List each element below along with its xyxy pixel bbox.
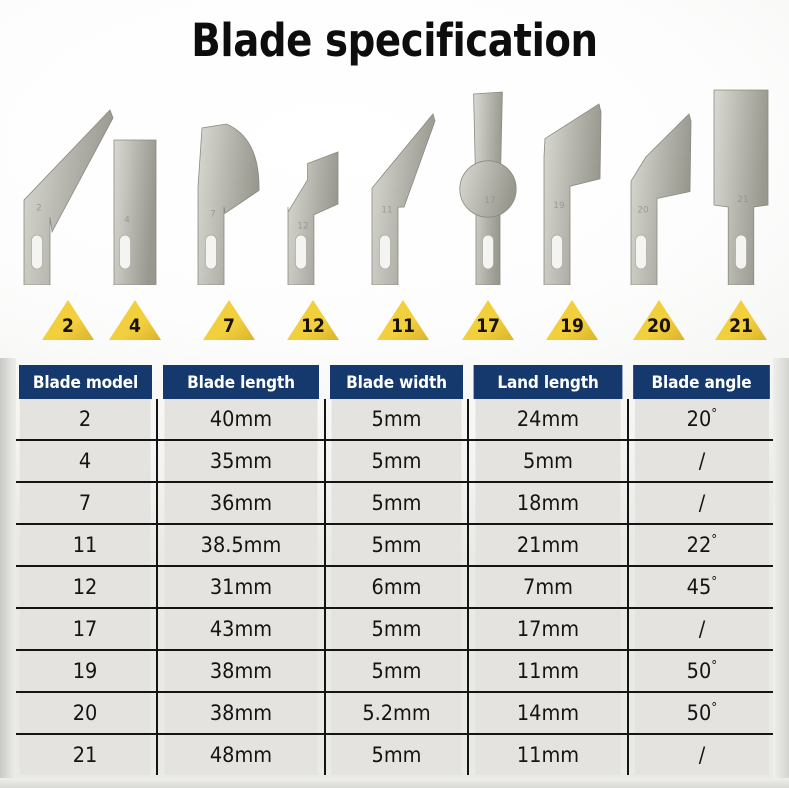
blade-length-cell: 40mm bbox=[164, 399, 319, 440]
blade-shape-12: 12 bbox=[286, 150, 340, 285]
table-row: 2148mm5mm11mm/ bbox=[14, 734, 775, 775]
blade-mounting-slot bbox=[206, 235, 217, 269]
blade-item: 1111 bbox=[370, 0, 436, 350]
blade-model-cell: 17 bbox=[20, 608, 152, 650]
blade-width-cell: 5.2mm bbox=[331, 692, 463, 734]
table-row: 1938mm5mm11mm50° bbox=[14, 650, 775, 692]
blade-width-cell: 5mm bbox=[331, 608, 463, 650]
blade-etched-number: 7 bbox=[210, 210, 216, 220]
blade-angle-cell: 22° bbox=[634, 524, 769, 566]
blade-length-cell: 35mm bbox=[164, 440, 319, 482]
land-length-cell: 24mm bbox=[474, 399, 621, 440]
blade-shape-2: 2 bbox=[22, 108, 114, 285]
blade-shape-7: 7 bbox=[196, 122, 262, 285]
land-length-cell: 14mm bbox=[474, 692, 621, 734]
blade-model-cell: 2 bbox=[20, 399, 152, 440]
blade-angle-cell: 50° bbox=[634, 650, 769, 692]
blade-model-cell: 12 bbox=[20, 566, 152, 608]
blade-item: 1717 bbox=[458, 0, 518, 350]
blade-width-cell: 5mm bbox=[331, 440, 463, 482]
land-length-cell: 11mm bbox=[474, 734, 621, 775]
blade-marker-2: 2 bbox=[40, 298, 96, 342]
blade-mounting-slot bbox=[552, 235, 563, 269]
blade-item: 1919 bbox=[542, 0, 602, 350]
blade-marker-12: 12 bbox=[285, 298, 341, 342]
blade-marker-label: 19 bbox=[547, 315, 597, 337]
blade-mounting-slot bbox=[32, 235, 43, 269]
bottom-edge-shading bbox=[0, 778, 789, 788]
blade-length-cell: 38mm bbox=[164, 650, 319, 692]
blade-width-cell: 5mm bbox=[331, 650, 463, 692]
blade-angle-cell: / bbox=[634, 440, 769, 482]
blade-model-cell: 20 bbox=[20, 692, 152, 734]
degree-symbol: ° bbox=[711, 701, 717, 716]
blade-mounting-slot bbox=[295, 235, 306, 269]
blade-item: 2121 bbox=[712, 0, 770, 350]
blade-item: 22 bbox=[22, 0, 114, 350]
blade-marker-label: 21 bbox=[716, 315, 766, 337]
blade-width-cell: 6mm bbox=[331, 566, 463, 608]
table-row: 1138.5mm5mm21mm22° bbox=[14, 524, 775, 566]
blade-marker-label: 11 bbox=[378, 315, 428, 337]
table-row: 736mm5mm18mm/ bbox=[14, 482, 775, 524]
land-length-cell: 21mm bbox=[474, 524, 621, 566]
degree-symbol: ° bbox=[711, 659, 717, 674]
blade-etched-number: 19 bbox=[553, 201, 565, 211]
blade-mounting-slot bbox=[483, 235, 494, 269]
blade-item: 1212 bbox=[286, 0, 340, 350]
blade-marker-label: 17 bbox=[463, 315, 513, 337]
blade-model-cell: 11 bbox=[20, 524, 152, 566]
blade-model-cell: 21 bbox=[20, 734, 152, 775]
degree-symbol: ° bbox=[711, 407, 717, 422]
blade-item: 44 bbox=[112, 0, 158, 350]
blade-etched-number: 2 bbox=[36, 204, 42, 214]
blade-etched-number: 11 bbox=[381, 205, 392, 215]
blade-model-cell: 19 bbox=[20, 650, 152, 692]
blade-marker-4: 4 bbox=[107, 298, 163, 342]
blade-mounting-slot bbox=[636, 235, 647, 269]
blade-angle-cell: / bbox=[634, 734, 769, 775]
table-row: 2038mm5.2mm14mm50° bbox=[14, 692, 775, 734]
blade-etched-number: 21 bbox=[737, 195, 748, 205]
blade-shape-19: 19 bbox=[542, 102, 602, 285]
blade-angle-cell: 20° bbox=[634, 399, 769, 440]
blade-width-cell: 5mm bbox=[331, 734, 463, 775]
blade-item: 77 bbox=[196, 0, 262, 350]
column-header-4: Blade angle bbox=[633, 365, 770, 399]
degree-symbol: ° bbox=[711, 575, 717, 590]
blade-length-cell: 31mm bbox=[164, 566, 319, 608]
blade-etched-number: 12 bbox=[297, 221, 308, 231]
blade-marker-11: 11 bbox=[375, 298, 431, 342]
blade-mounting-slot bbox=[120, 235, 131, 269]
blade-marker-7: 7 bbox=[201, 298, 257, 342]
land-length-cell: 11mm bbox=[474, 650, 621, 692]
table-row: 240mm5mm24mm20° bbox=[14, 399, 775, 440]
blade-model-cell: 7 bbox=[20, 482, 152, 524]
blade-shape-11: 11 bbox=[370, 112, 436, 285]
blade-angle-cell: 50° bbox=[634, 692, 769, 734]
blade-marker-label: 20 bbox=[634, 315, 684, 337]
blade-shape-21: 21 bbox=[712, 87, 770, 285]
column-header-3: Land length bbox=[474, 365, 623, 399]
land-length-cell: 5mm bbox=[474, 440, 621, 482]
blade-length-cell: 36mm bbox=[164, 482, 319, 524]
blade-length-cell: 48mm bbox=[164, 734, 319, 775]
land-length-cell: 7mm bbox=[474, 566, 621, 608]
table-row: 435mm5mm5mm/ bbox=[14, 440, 775, 482]
blade-length-cell: 38mm bbox=[164, 692, 319, 734]
blade-mounting-slot bbox=[380, 235, 391, 269]
blade-marker-label: 4 bbox=[110, 315, 160, 337]
blade-etched-number: 17 bbox=[484, 196, 495, 206]
table-header: Blade modelBlade lengthBlade widthLand l… bbox=[14, 365, 775, 399]
blade-angle-cell: / bbox=[634, 608, 769, 650]
right-edge-shading bbox=[773, 358, 789, 788]
blade-width-cell: 5mm bbox=[331, 524, 463, 566]
degree-symbol: ° bbox=[711, 533, 717, 548]
blade-spec-table: Blade modelBlade lengthBlade widthLand l… bbox=[14, 365, 775, 775]
table-row: 1231mm6mm7mm45° bbox=[14, 566, 775, 608]
land-length-cell: 18mm bbox=[474, 482, 621, 524]
blade-angle-cell: 45° bbox=[634, 566, 769, 608]
blade-width-cell: 5mm bbox=[331, 482, 463, 524]
blade-marker-19: 19 bbox=[544, 298, 600, 342]
blade-etched-number: 4 bbox=[124, 215, 130, 225]
blade-marker-label: 2 bbox=[43, 315, 93, 337]
table-header-row: Blade modelBlade lengthBlade widthLand l… bbox=[14, 365, 775, 399]
blade-length-cell: 43mm bbox=[164, 608, 319, 650]
blade-shape-20: 20 bbox=[626, 112, 692, 285]
blade-illustration-row: 224477121211111717191920202121 bbox=[0, 0, 789, 350]
blade-marker-21: 21 bbox=[713, 298, 769, 342]
table-body: 240mm5mm24mm20°435mm5mm5mm/736mm5mm18mm/… bbox=[14, 399, 775, 775]
column-header-2: Blade width bbox=[330, 365, 463, 399]
blade-item: 2020 bbox=[626, 0, 692, 350]
blade-marker-20: 20 bbox=[631, 298, 687, 342]
column-header-0: Blade model bbox=[19, 365, 152, 399]
column-header-1: Blade length bbox=[163, 365, 319, 399]
blade-marker-label: 12 bbox=[288, 315, 338, 337]
blade-length-cell: 38.5mm bbox=[164, 524, 319, 566]
blade-shape-4: 4 bbox=[112, 136, 158, 285]
blade-width-cell: 5mm bbox=[331, 399, 463, 440]
blade-angle-cell: / bbox=[634, 482, 769, 524]
table-row: 1743mm5mm17mm/ bbox=[14, 608, 775, 650]
blade-marker-label: 7 bbox=[204, 315, 254, 337]
blade-marker-17: 17 bbox=[460, 298, 516, 342]
blade-mounting-slot bbox=[736, 235, 747, 269]
land-length-cell: 17mm bbox=[474, 608, 621, 650]
blade-model-cell: 4 bbox=[20, 440, 152, 482]
blade-bulge bbox=[460, 161, 516, 217]
blade-etched-number: 20 bbox=[637, 205, 649, 215]
blade-specification-infographic: Blade specification 22447712121111171719… bbox=[0, 0, 789, 788]
blade-shape-17: 17 bbox=[458, 90, 518, 285]
